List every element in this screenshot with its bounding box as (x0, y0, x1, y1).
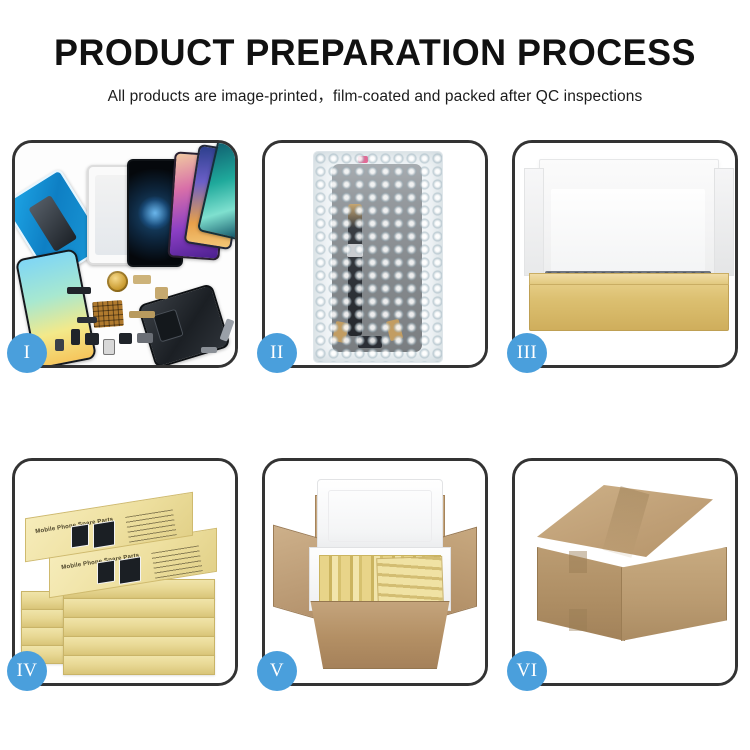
flex-cable (348, 204, 362, 336)
gold-box-body (529, 279, 729, 331)
process-step-panel-6[interactable]: VI (512, 458, 738, 686)
product-preparation-infographic: PRODUCT PREPARATION PROCESS All products… (0, 0, 750, 750)
small-part (77, 317, 97, 323)
carton-front-wall (301, 601, 459, 669)
small-part (71, 329, 80, 345)
step-number-badge-1: I (7, 333, 47, 373)
process-step-panel-2[interactable]: II (262, 140, 488, 368)
step-number-badge-6: VI (507, 651, 547, 691)
product-photo-window (71, 524, 89, 549)
bubble-wrap-bag (313, 151, 443, 363)
open-gold-box-image (515, 143, 735, 365)
stacked-box (63, 598, 215, 618)
pink-pull-tab (358, 156, 368, 163)
small-part (55, 339, 64, 351)
process-step-panel-3[interactable]: III (512, 140, 738, 368)
step-photo-6 (515, 461, 735, 683)
small-part (103, 339, 115, 355)
page-header: PRODUCT PREPARATION PROCESS All products… (0, 0, 750, 106)
product-photo-window (97, 560, 115, 585)
small-part (201, 347, 217, 353)
step-number-badge-4: IV (7, 651, 47, 691)
page-subtitle: All products are image-printed，film-coat… (0, 84, 750, 106)
step-photo-3 (515, 143, 735, 365)
step-photo-4: Mobile Phone Spare Parts Mobile Phone Sp… (15, 461, 235, 683)
gold-box-lip (529, 273, 729, 285)
small-part (85, 333, 99, 345)
stacked-box (63, 617, 215, 637)
driver-chip (347, 244, 363, 257)
small-part (129, 311, 155, 318)
connector-part (358, 336, 382, 348)
small-part (119, 333, 132, 344)
process-step-panel-5[interactable]: V (262, 458, 488, 686)
stacked-box (63, 655, 215, 675)
step-photo-5 (265, 461, 485, 683)
phone-parts-collage-image (15, 143, 235, 365)
gold-boxes-row (376, 556, 444, 604)
step-number-badge-3: III (507, 333, 547, 373)
process-step-panel-1[interactable]: I (12, 140, 238, 368)
chip-array-part (92, 300, 124, 328)
small-part (67, 287, 91, 294)
step-number-badge-5: V (257, 651, 297, 691)
stacked-box (63, 636, 215, 656)
step-photo-2 (265, 143, 485, 365)
page-title: PRODUCT PREPARATION PROCESS (11, 34, 739, 71)
step-photo-1 (15, 143, 235, 365)
copper-coil-part (107, 271, 128, 292)
product-photo-window (119, 556, 141, 584)
process-step-grid: I II (12, 140, 738, 686)
phone-back-housing (137, 283, 231, 365)
step-number-badge-2: II (257, 333, 297, 373)
carton-tape-mark (569, 609, 587, 631)
small-part (155, 287, 168, 299)
styrofoam-lid (317, 479, 443, 555)
carton-tape-mark (569, 551, 587, 573)
carton-with-foam-cooler-image (265, 461, 485, 683)
small-part (137, 333, 153, 343)
box-stack: Mobile Phone Spare Parts Mobile Phone Sp… (21, 479, 233, 675)
sealed-shipping-carton-image (515, 461, 735, 683)
product-photo-window (93, 520, 115, 548)
stacked-retail-boxes-image: Mobile Phone Spare Parts Mobile Phone Sp… (15, 461, 235, 683)
process-step-panel-4[interactable]: Mobile Phone Spare Parts Mobile Phone Sp… (12, 458, 238, 686)
small-part (133, 275, 151, 284)
carton-right-face (621, 547, 727, 641)
foam-sheet (551, 189, 705, 275)
bubble-wrapped-screen-image (265, 143, 485, 365)
